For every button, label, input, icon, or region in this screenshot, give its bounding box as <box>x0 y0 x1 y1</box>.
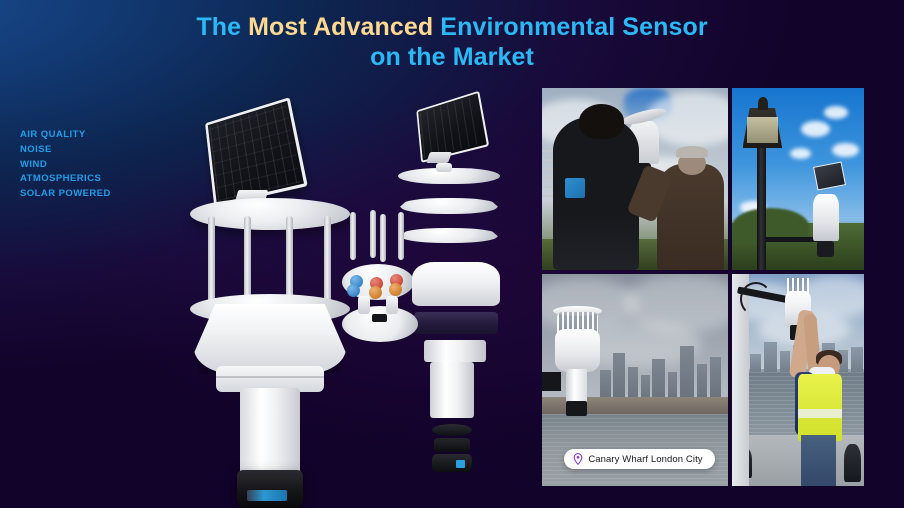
sensor-device <box>555 329 600 371</box>
exploded-plate-two <box>400 198 498 214</box>
exploded-rod <box>370 210 376 258</box>
mounting-arm <box>764 237 819 242</box>
engineer-in-hoodie <box>553 117 639 270</box>
title-segment-environmental-sensor: Environmental Sensor <box>433 13 707 41</box>
sensor-device <box>813 194 839 241</box>
lamppost <box>757 143 766 270</box>
exploded-sensor-band <box>414 312 498 334</box>
canary-wharf-skyline <box>598 344 728 403</box>
dock-bollard <box>844 444 861 482</box>
location-badge[interactable]: Canary Wharf London City <box>564 449 714 469</box>
exploded-base-part-one <box>432 424 472 436</box>
hi-vis-vest <box>798 374 842 442</box>
exploded-base-part-three <box>432 454 472 472</box>
exploded-rod <box>380 214 386 262</box>
title-line-2: on the Market <box>0 42 904 72</box>
feature-item-atmospherics: ATMOSPHERICS <box>20 172 111 187</box>
exploded-solar-panel-icon <box>416 91 489 163</box>
photo-sensor-canary-wharf[interactable]: Canary Wharf London City <box>542 274 728 486</box>
feature-item-noise: NOISE <box>20 143 111 158</box>
exploded-panel-mount <box>426 152 452 163</box>
location-badge-label: Canary Wharf London City <box>588 454 702 465</box>
feature-item-solar-powered: SOLAR POWERED <box>20 187 111 202</box>
brand-logo <box>247 490 287 501</box>
exploded-sensor-image <box>336 94 518 470</box>
photo-grid: Canary Wharf London City <box>542 88 864 486</box>
exploded-top-plate <box>398 168 500 184</box>
exploded-filter-plate <box>342 264 414 300</box>
exploded-stem-collar <box>424 340 486 362</box>
hoodie-brand-logo <box>565 178 585 198</box>
exploded-body-tube <box>430 362 474 418</box>
photo-sensor-waterfront-technician[interactable] <box>732 274 864 486</box>
title-segment-most-advanced: Most Advanced <box>248 13 433 41</box>
sensor-stem <box>240 388 300 476</box>
exploded-base-part-two <box>434 438 470 452</box>
product-imagery <box>150 80 520 480</box>
exploded-radiation-shield <box>412 262 500 306</box>
exploded-rod <box>350 212 356 260</box>
photo-sensor-installation-engineers[interactable] <box>542 88 728 270</box>
title-line-1: The Most Advanced Environmental Sensor <box>0 12 904 42</box>
exploded-bottom-cap <box>342 306 418 342</box>
photo-sensor-on-lamppost[interactable] <box>732 88 864 270</box>
feature-item-wind: WIND <box>20 158 111 173</box>
page-title: The Most Advanced Environmental Sensor o… <box>0 12 904 72</box>
sensor-base <box>237 470 303 508</box>
sensor-radiation-shield <box>194 304 346 374</box>
exploded-rod <box>398 212 404 260</box>
feature-list: AIR QUALITY NOISE WIND ATMOSPHERICS SOLA… <box>20 128 111 202</box>
exploded-plate-three <box>400 228 498 243</box>
location-pin-icon <box>573 453 583 465</box>
slide-canvas: The Most Advanced Environmental Sensor o… <box>0 0 904 508</box>
assembled-sensor-image <box>180 98 360 468</box>
feature-item-air-quality: AIR QUALITY <box>20 128 111 143</box>
sensor-solar-panel <box>813 162 846 191</box>
coiled-cable <box>740 282 772 316</box>
title-segment-the: The <box>196 13 248 41</box>
